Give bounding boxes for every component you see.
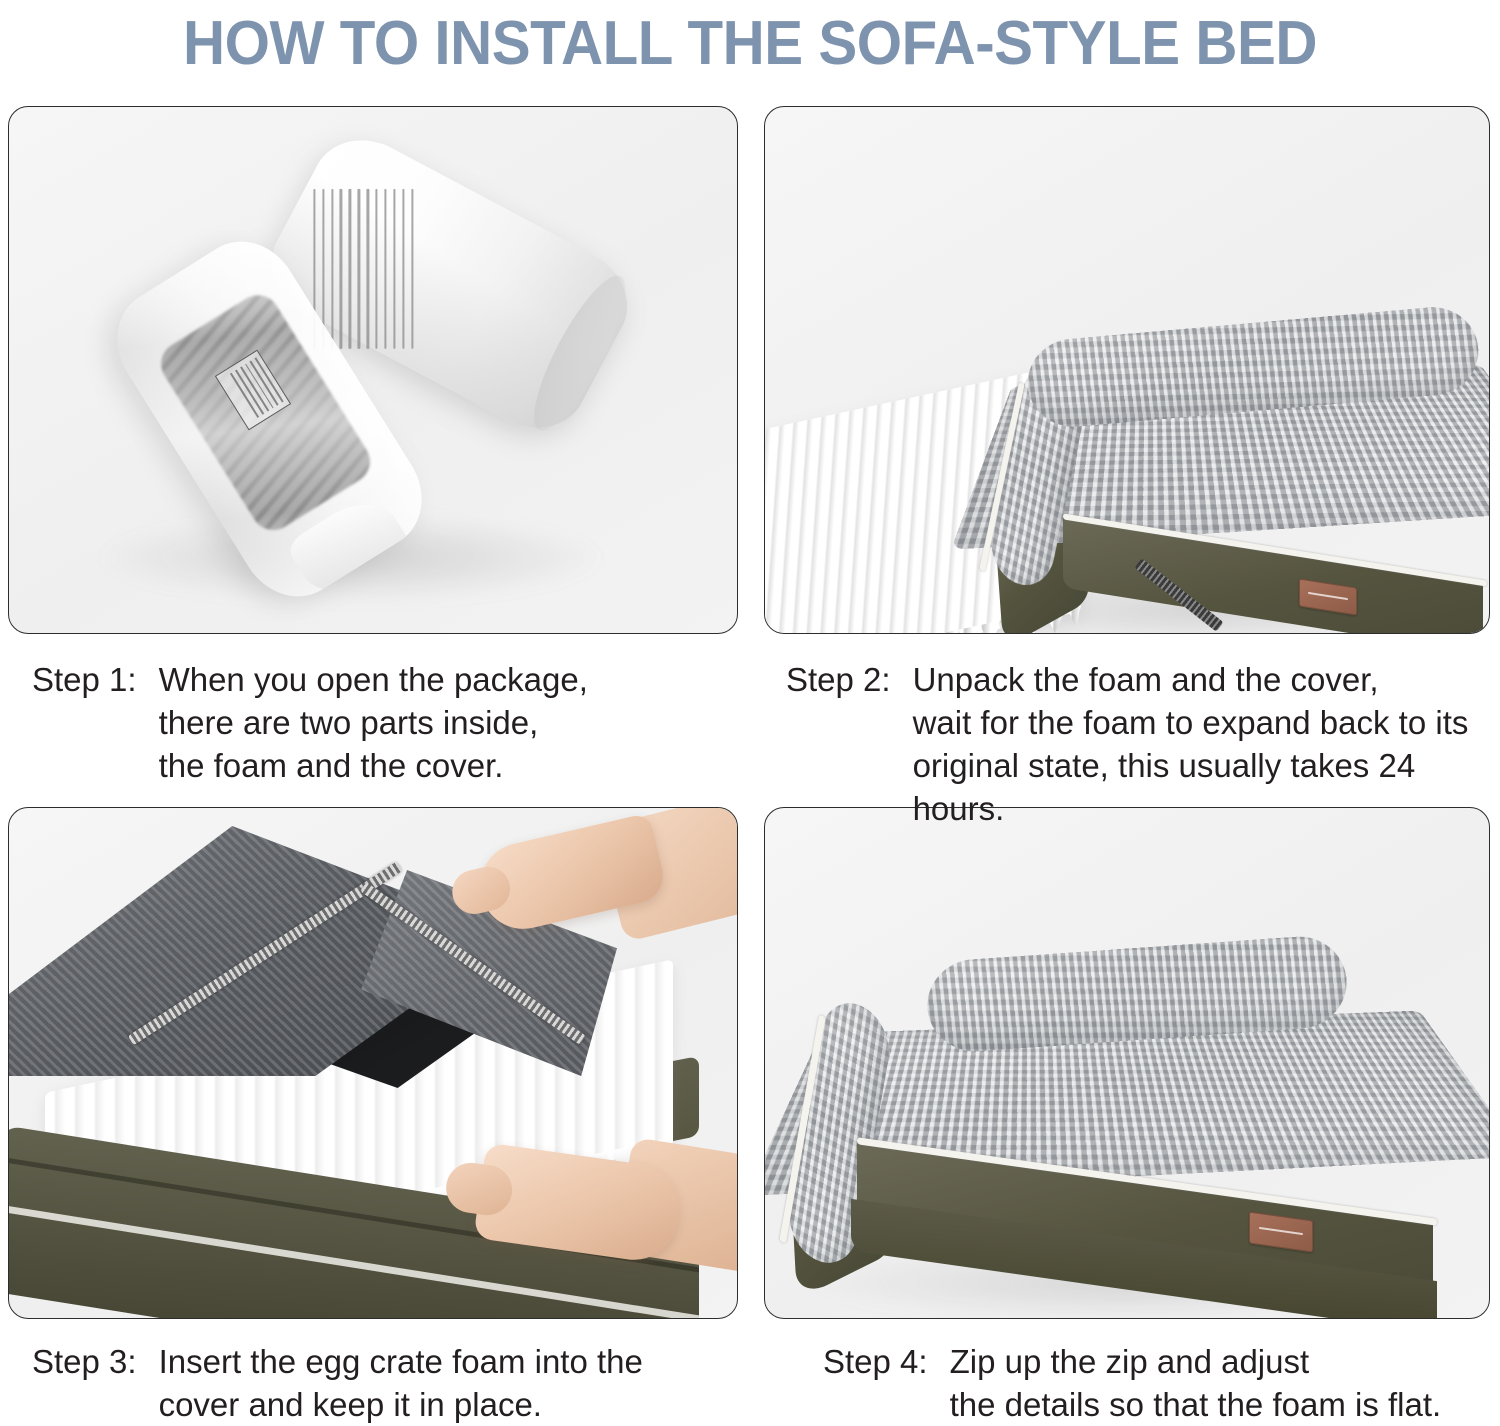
step-4-illustration — [765, 808, 1489, 1318]
step-1-caption: Step 1: When you open the package, there… — [32, 658, 722, 787]
step-4-image-panel — [764, 807, 1490, 1319]
step-3-image-panel — [8, 807, 738, 1319]
step-2-image-panel — [764, 106, 1490, 634]
step-4-label: Step 4: — [823, 1340, 950, 1383]
step-4-text: Zip up the zip and adjust the details so… — [950, 1340, 1483, 1426]
assembled-sofa-style-bed — [797, 948, 1457, 1278]
step-1-text: When you open the package, there are two… — [159, 658, 722, 787]
step-3-label: Step 3: — [32, 1340, 159, 1383]
step-2-illustration — [765, 107, 1489, 633]
step-2-text: Unpack the foam and the cover, wait for … — [913, 658, 1486, 830]
step-1-image-panel — [8, 106, 738, 634]
sofa-style-bed — [979, 289, 1479, 619]
page-title: HOW TO INSTALL THE SOFA-STYLE BED — [45, 0, 1455, 86]
step-2-label: Step 2: — [786, 658, 913, 701]
step-3-text: Insert the egg crate foam into the cover… — [159, 1340, 722, 1426]
step-3-caption: Step 3: Insert the egg crate foam into t… — [32, 1340, 722, 1426]
step-1-label: Step 1: — [32, 658, 159, 701]
step-2-caption: Step 2: Unpack the foam and the cover, w… — [786, 658, 1486, 830]
step-3-illustration — [9, 808, 737, 1318]
step-4-caption: Step 4: Zip up the zip and adjust the de… — [823, 1340, 1483, 1426]
step-1-illustration — [9, 107, 737, 633]
